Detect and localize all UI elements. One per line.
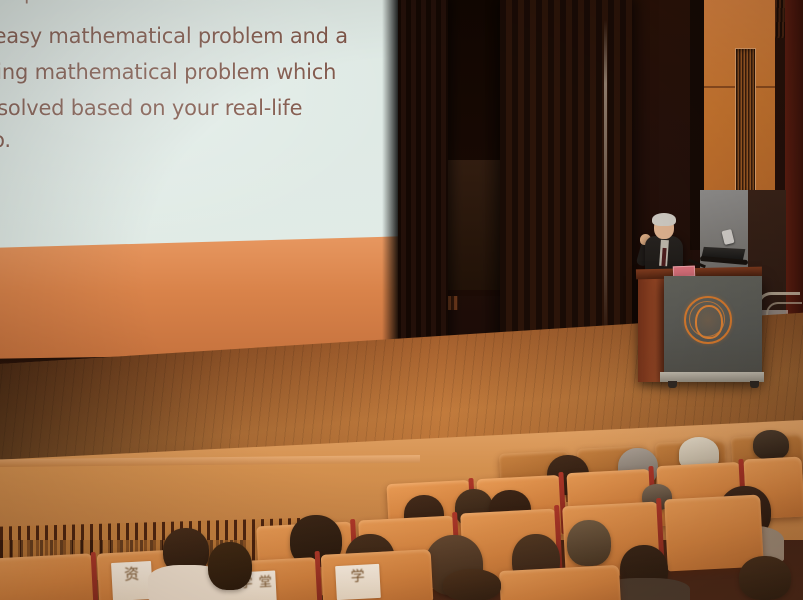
seat-sign: 资 <box>111 561 153 600</box>
wall-acoustic-panel <box>735 48 756 195</box>
projection-screen: p nt a real-life scenario? n easy mathem… <box>0 0 398 248</box>
slide-line-2: nging mathematical problem which <box>0 60 336 84</box>
institutional-seal-ring <box>689 301 725 337</box>
audience-head <box>739 556 791 600</box>
curtain-gap-light <box>604 20 607 338</box>
slide-line-3: e solved based on your real-life <box>0 96 302 120</box>
slide-line-1: n easy mathematical problem and a <box>0 24 348 48</box>
screen-right-shadow <box>382 0 398 370</box>
lectern-foot-left <box>668 381 677 388</box>
audience-head <box>567 520 611 566</box>
seat-row-1-0[interactable] <box>0 553 95 600</box>
seat-sign-text: 学 <box>335 564 380 586</box>
slide-line-0: p nt a real-life scenario? <box>24 0 261 4</box>
stage-curtain-left <box>396 0 448 388</box>
audience-head <box>753 430 789 460</box>
audience-head <box>208 542 252 590</box>
seat-row-1-4[interactable] <box>499 565 621 600</box>
seat-sign: 学 <box>335 564 381 600</box>
speaker-hair <box>652 213 676 226</box>
auditorium-photo: p nt a real-life scenario? n easy mathem… <box>0 0 803 600</box>
slide-line-4: rio. <box>0 128 11 152</box>
lectern-foot-right <box>750 381 759 388</box>
rear-stage-door <box>448 160 508 290</box>
seat-sign-text: 资 <box>111 561 152 584</box>
audience-head <box>443 569 501 600</box>
right-frame-edge <box>785 0 803 330</box>
